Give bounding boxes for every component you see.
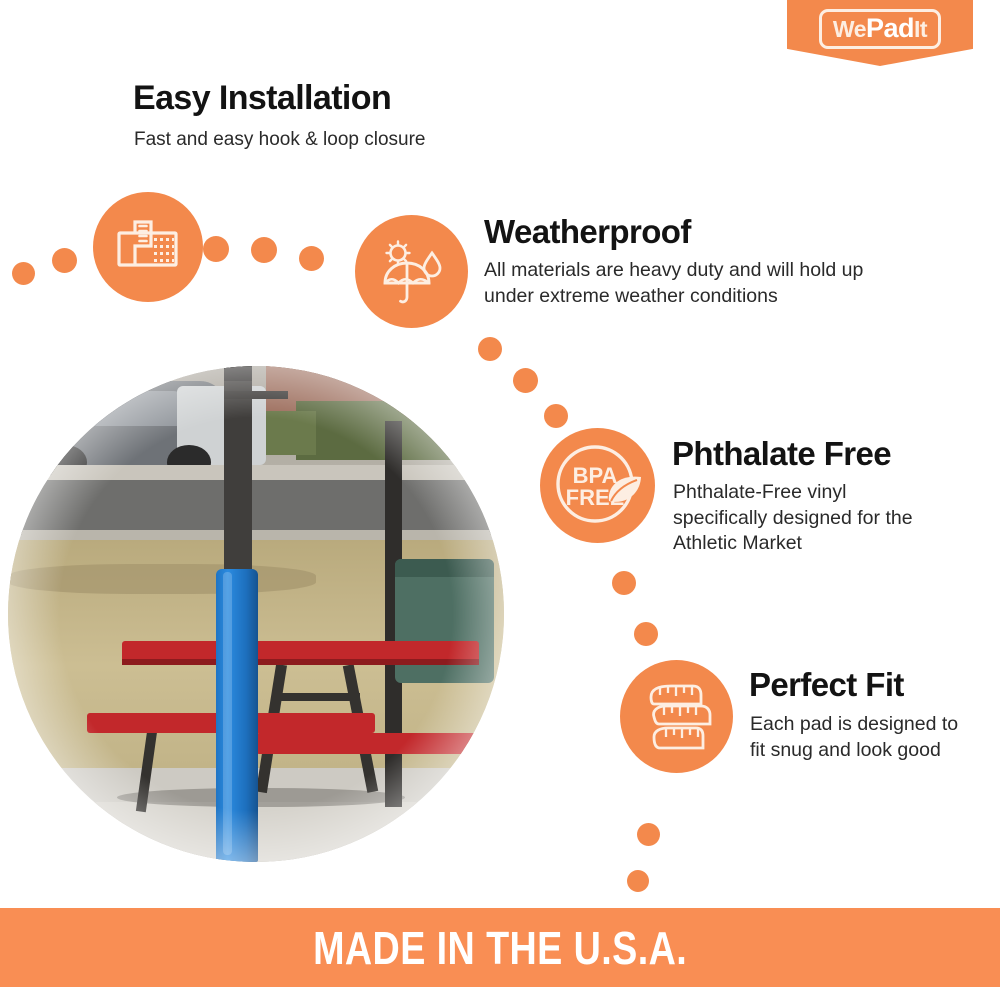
trail-dot bbox=[299, 246, 324, 271]
tape-measure-icon bbox=[620, 660, 733, 773]
trail-dot bbox=[637, 823, 660, 846]
feature-desc-perfect-fit: Each pad is designed to fit snug and loo… bbox=[750, 712, 970, 763]
made-in-usa-text: MADE IN THE U.S.A. bbox=[313, 921, 687, 975]
brand-logo: WePadIt bbox=[787, 0, 973, 66]
feature-title-weatherproof: Weatherproof bbox=[484, 215, 691, 250]
feature-title-phthalate-free: Phthalate Free bbox=[672, 437, 891, 472]
hook-and-loop-icon bbox=[93, 192, 203, 302]
trail-dot bbox=[478, 337, 502, 361]
feature-desc-weatherproof: All materials are heavy duty and will ho… bbox=[484, 258, 904, 309]
trail-dot bbox=[612, 571, 636, 595]
trail-dot bbox=[203, 236, 229, 262]
trail-dot bbox=[12, 262, 35, 285]
infographic-page: WePadIt Easy Installation Fast and easy … bbox=[0, 0, 1000, 987]
brand-logo-we: We bbox=[833, 18, 866, 41]
trail-dot bbox=[251, 237, 277, 263]
trail-dot bbox=[627, 870, 649, 892]
product-photo bbox=[8, 366, 504, 862]
made-in-usa-banner: MADE IN THE U.S.A. bbox=[0, 908, 1000, 987]
feature-title-perfect-fit: Perfect Fit bbox=[749, 668, 904, 703]
brand-logo-it: It bbox=[914, 18, 927, 41]
bpa-free-leaf-icon: BPA FREE bbox=[540, 428, 655, 543]
feature-desc-easy-installation: Fast and easy hook & loop closure bbox=[134, 127, 554, 152]
trail-dot bbox=[544, 404, 568, 428]
trail-dot bbox=[52, 248, 77, 273]
brand-logo-frame: WePadIt bbox=[819, 9, 941, 49]
brand-logo-pad: Pad bbox=[866, 15, 914, 42]
trail-dot bbox=[513, 368, 538, 393]
feature-desc-phthalate-free: Phthalate-Free vinyl specifically design… bbox=[673, 480, 933, 557]
trail-dot bbox=[634, 622, 658, 646]
umbrella-sun-rain-icon bbox=[355, 215, 468, 328]
feature-title-easy-installation: Easy Installation bbox=[133, 80, 391, 116]
